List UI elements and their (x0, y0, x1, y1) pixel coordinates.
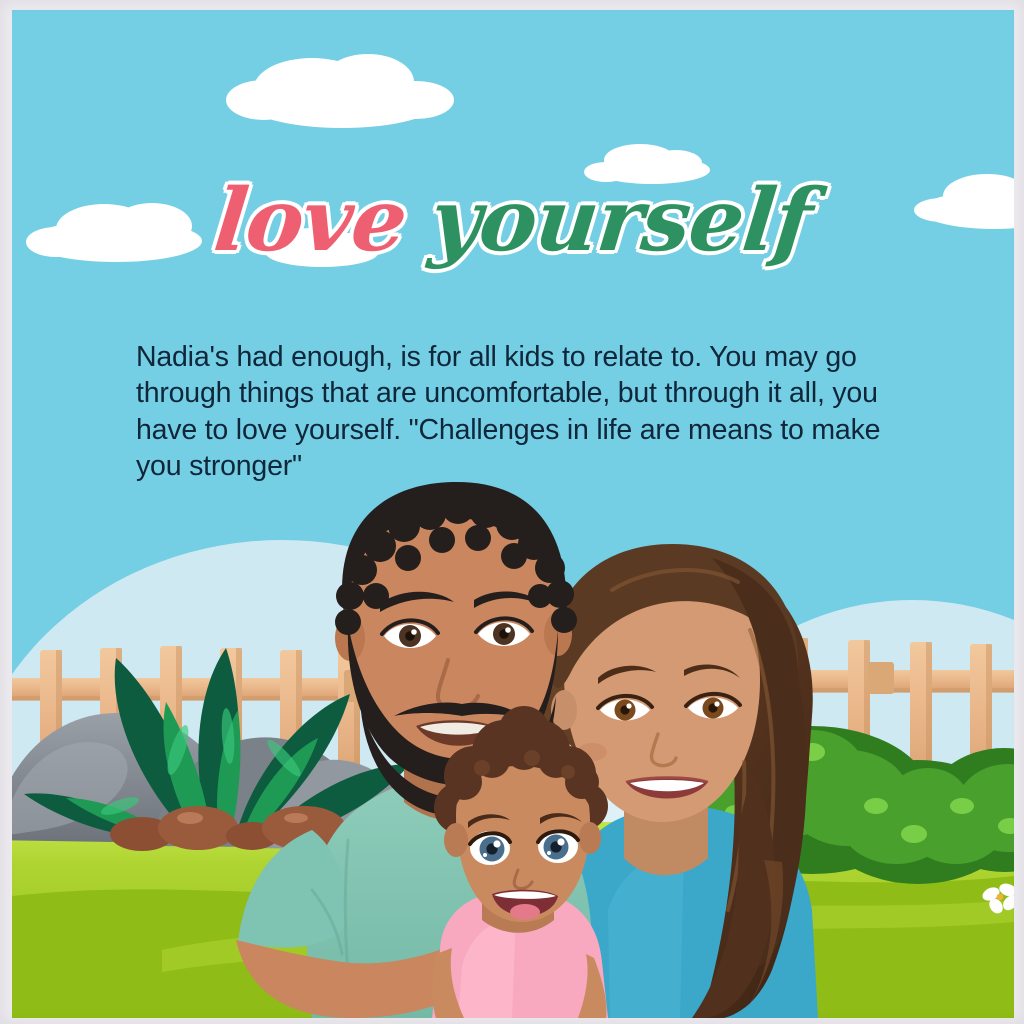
child-eye-right (538, 829, 578, 863)
family-illustration (12, 10, 1014, 1018)
illustration-canvas: loveyourself Nadia's had enough, is for … (12, 10, 1014, 1018)
child-eye-left (470, 831, 510, 865)
poster-frame: loveyourself Nadia's had enough, is for … (0, 0, 1024, 1024)
